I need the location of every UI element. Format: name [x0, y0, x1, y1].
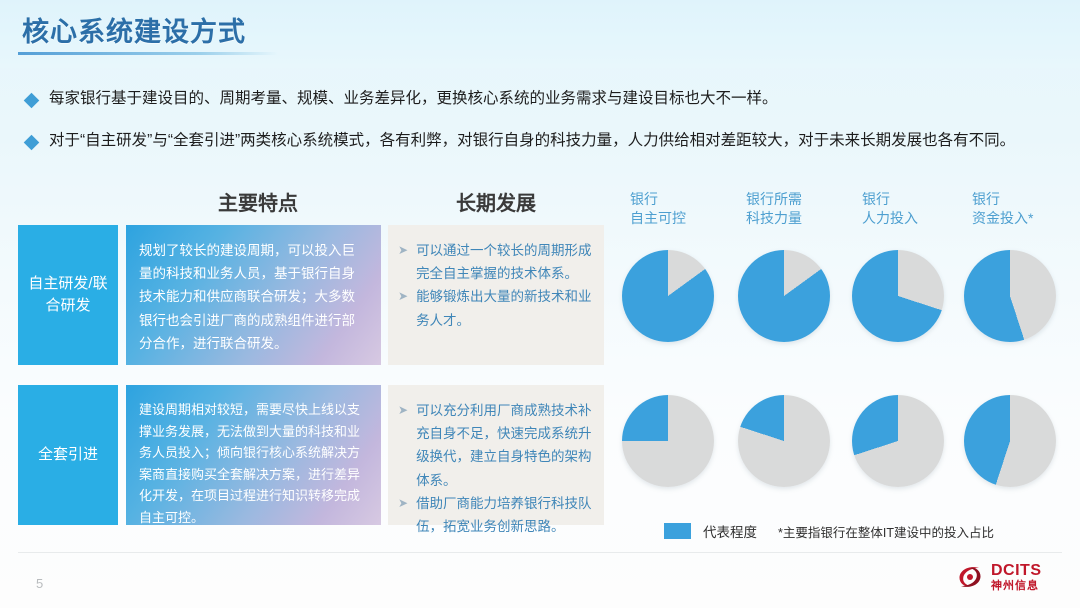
chart-footnote: *主要指银行在整体IT建设中的投入占比: [778, 522, 994, 541]
row-label-self-development: 自主研发/联合研发: [18, 225, 118, 365]
pie-chart-row2-capital: [964, 395, 1056, 487]
row-label-full-procurement: 全套引进: [18, 385, 118, 525]
pie-heading-autonomy: 银行 自主可控: [630, 190, 686, 228]
chart-legend: 代表程度: [664, 521, 757, 541]
development-list-item: ➤ 可以通过一个较长的周期形成完全自主掌握的技术体系。: [398, 239, 594, 285]
logo-name: DCITS: [991, 563, 1042, 579]
legend-color-swatch: [664, 523, 691, 539]
footer-divider: [18, 552, 1062, 553]
pie-chart-row1-autonomy: [622, 250, 714, 342]
pie-chart-row1-capital: [964, 250, 1056, 342]
arrow-bullet-icon: ➤: [398, 399, 408, 422]
arrow-bullet-icon: ➤: [398, 285, 408, 308]
row-features-self-development: 规划了较长的建设周期，可以投入巨量的科技和业务人员，基于银行自身技术能力和供应商…: [126, 225, 381, 365]
pie-heading-manpower: 银行 人力投入: [862, 190, 918, 228]
pie-chart-row2-autonomy: [622, 395, 714, 487]
row-features-full-procurement: 建设周期相对较短，需要尽快上线以支撑业务发展，无法做到大量的科技和业务人员投入；…: [126, 385, 381, 525]
pie-chart-row2-manpower: [852, 395, 944, 487]
development-list-item: ➤ 借助厂商能力培养银行科技队伍，拓宽业务创新思路。: [398, 492, 594, 538]
pie-chart-row1-manpower: [852, 250, 944, 342]
slide-canvas: 核心系统建设方式 每家银行基于建设目的、周期考量、规模、业务差异化，更换核心系统…: [0, 0, 1080, 608]
development-list-item: ➤ 可以充分利用厂商成熟技术补充自身不足，快速完成系统升级换代，建立自身特色的架…: [398, 399, 594, 492]
intro-bullet-2: 对于“自主研发”与“全套引进”两类核心系统模式，各有利弊，对银行自身的科技力量，…: [26, 131, 1015, 151]
development-list-item: ➤ 能够锻炼出大量的新技术和业务人才。: [398, 285, 594, 331]
development-item-text: 借助厂商能力培养银行科技队伍，拓宽业务创新思路。: [416, 492, 594, 538]
diamond-bullet-icon: [24, 93, 40, 109]
intro-bullet-text: 对于“自主研发”与“全套引进”两类核心系统模式，各有利弊，对银行自身的科技力量，…: [49, 131, 1015, 151]
development-item-text: 可以充分利用厂商成熟技术补充自身不足，快速完成系统升级换代，建立自身特色的架构体…: [416, 399, 594, 492]
row-development-self-development: ➤ 可以通过一个较长的周期形成完全自主掌握的技术体系。 ➤ 能够锻炼出大量的新技…: [388, 225, 604, 365]
logo-subtitle: 神州信息: [991, 581, 1042, 592]
page-title: 核心系统建设方式: [22, 10, 246, 49]
pie-chart-row1-tech-power: [738, 250, 830, 342]
column-heading-development: 长期发展: [386, 187, 606, 216]
development-item-text: 能够锻炼出大量的新技术和业务人才。: [416, 285, 594, 331]
company-logo: DCITS 神州信息: [955, 562, 1042, 592]
arrow-bullet-icon: ➤: [398, 239, 408, 262]
pie-heading-capital: 银行 资金投入*: [972, 190, 1033, 228]
development-item-text: 可以通过一个较长的周期形成完全自主掌握的技术体系。: [416, 239, 594, 285]
intro-bullet-text: 每家银行基于建设目的、周期考量、规模、业务差异化，更换核心系统的业务需求与建设目…: [49, 89, 778, 109]
intro-bullet-1: 每家银行基于建设目的、周期考量、规模、业务差异化，更换核心系统的业务需求与建设目…: [26, 89, 778, 109]
title-underline: [18, 52, 278, 55]
column-heading-features: 主要特点: [128, 187, 388, 216]
logo-wordmark: DCITS 神州信息: [991, 563, 1042, 592]
pie-chart-row2-tech-power: [738, 395, 830, 487]
diamond-bullet-icon: [24, 135, 40, 151]
page-number: 5: [36, 576, 43, 591]
legend-label: 代表程度: [703, 521, 757, 541]
pie-heading-tech-power: 银行所需 科技力量: [746, 190, 802, 228]
dcits-swirl-icon: [955, 562, 985, 592]
arrow-bullet-icon: ➤: [398, 492, 408, 515]
row-development-full-procurement: ➤ 可以充分利用厂商成熟技术补充自身不足，快速完成系统升级换代，建立自身特色的架…: [388, 385, 604, 525]
